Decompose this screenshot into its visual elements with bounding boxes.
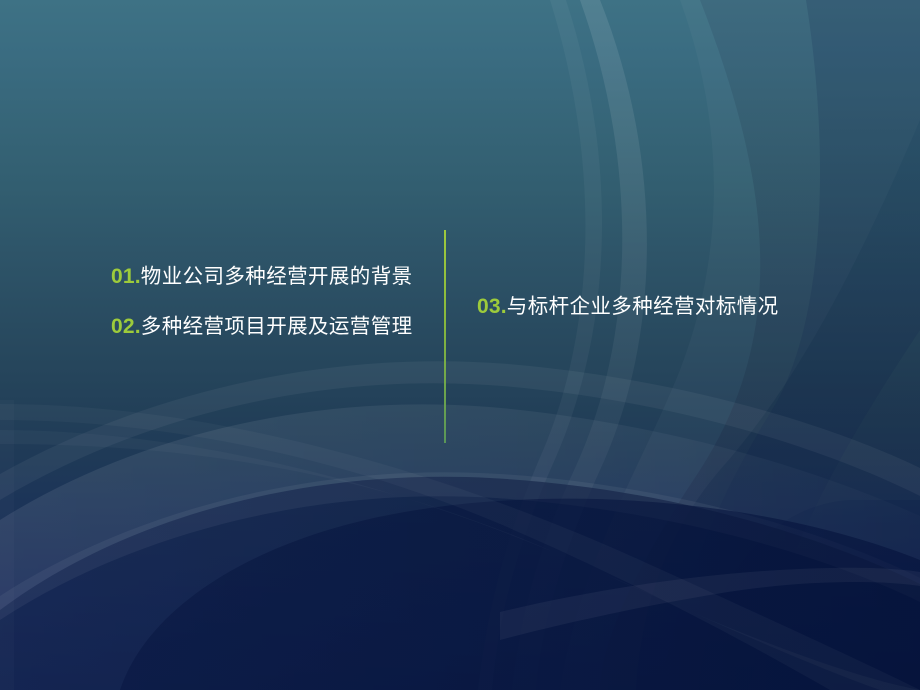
slide-content: 01.物业公司多种经营开展的背景 02.多种经营项目开展及运营管理 03.与标杆… [0,0,920,690]
agenda-item-02-label: 多种经营项目开展及运营管理 [141,315,413,338]
agenda-item-01[interactable]: 01.物业公司多种经营开展的背景 [111,266,431,288]
vertical-separator [444,230,446,443]
agenda-item-01-label: 物业公司多种经营开展的背景 [141,265,413,288]
presentation-slide: 01.物业公司多种经营开展的背景 02.多种经营项目开展及运营管理 03.与标杆… [0,0,920,690]
agenda-item-03-number: 03. [477,295,507,318]
agenda-item-03[interactable]: 03.与标杆企业多种经营对标情况 [477,296,817,318]
agenda-item-01-number: 01. [111,265,141,288]
agenda-item-02-number: 02. [111,315,141,338]
agenda-column-left: 01.物业公司多种经营开展的背景 02.多种经营项目开展及运营管理 [111,266,431,337]
agenda-item-02[interactable]: 02.多种经营项目开展及运营管理 [111,316,431,338]
agenda-column-right: 03.与标杆企业多种经营对标情况 [477,296,817,318]
agenda-item-03-label: 与标杆企业多种经营对标情况 [507,295,779,318]
